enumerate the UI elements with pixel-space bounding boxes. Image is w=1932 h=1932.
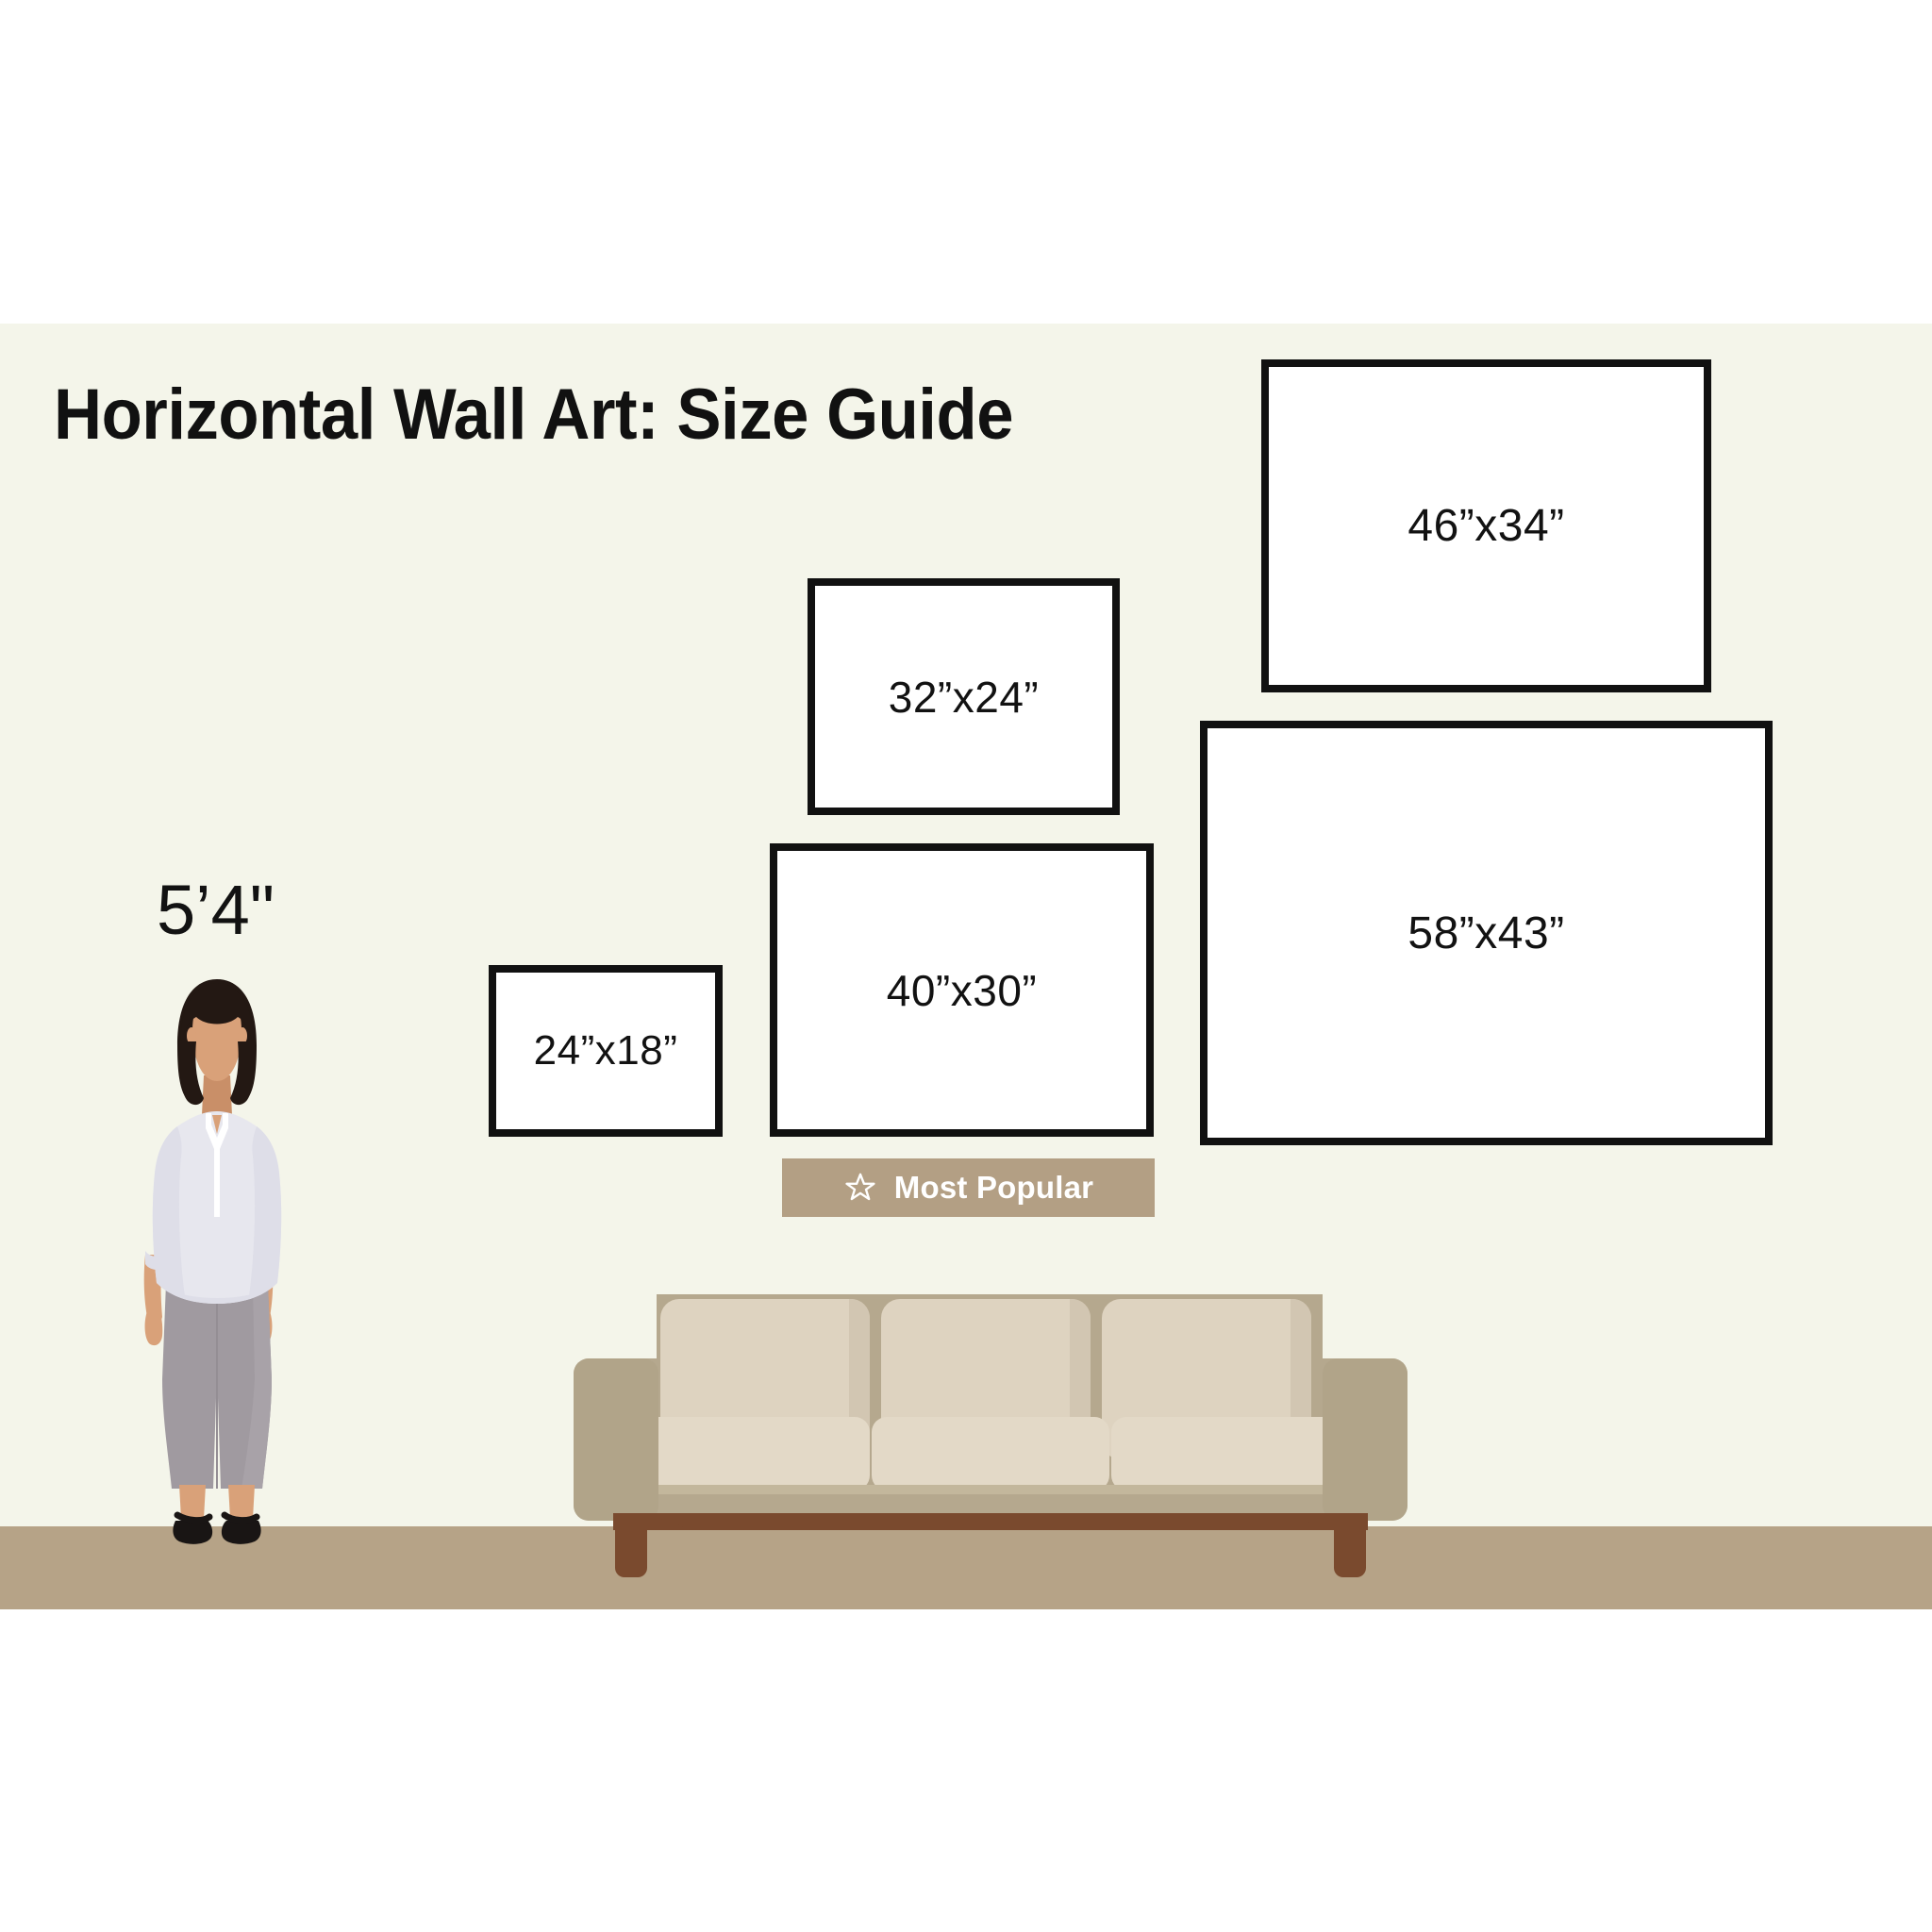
person-figure xyxy=(123,972,311,1552)
most-popular-label: Most Popular xyxy=(894,1170,1093,1206)
most-popular-badge[interactable]: Most Popular xyxy=(782,1158,1155,1217)
art-frame-46x34[interactable]: 46”x34” xyxy=(1261,359,1711,692)
star-outline-icon xyxy=(843,1171,877,1205)
art-frame-label-40x30: 40”x30” xyxy=(887,965,1037,1016)
person-height-label: 5’4" xyxy=(157,870,275,950)
art-frame-32x24[interactable]: 32”x24” xyxy=(808,578,1120,815)
art-frame-40x30[interactable]: 40”x30” xyxy=(770,843,1154,1137)
art-frame-label-58x43: 58”x43” xyxy=(1407,908,1564,959)
size-guide-illustration: Horizontal Wall Art: Size Guide 46”x34” … xyxy=(0,0,1932,1932)
art-frame-label-46x34: 46”x34” xyxy=(1407,500,1564,552)
art-frame-label-24x18: 24”x18” xyxy=(534,1027,678,1074)
sofa-illustration xyxy=(566,1275,1415,1577)
art-frame-24x18[interactable]: 24”x18” xyxy=(489,965,723,1137)
page-title: Horizontal Wall Art: Size Guide xyxy=(54,374,1013,456)
art-frame-label-32x24: 32”x24” xyxy=(889,672,1039,723)
art-frame-58x43[interactable]: 58”x43” xyxy=(1200,721,1773,1145)
